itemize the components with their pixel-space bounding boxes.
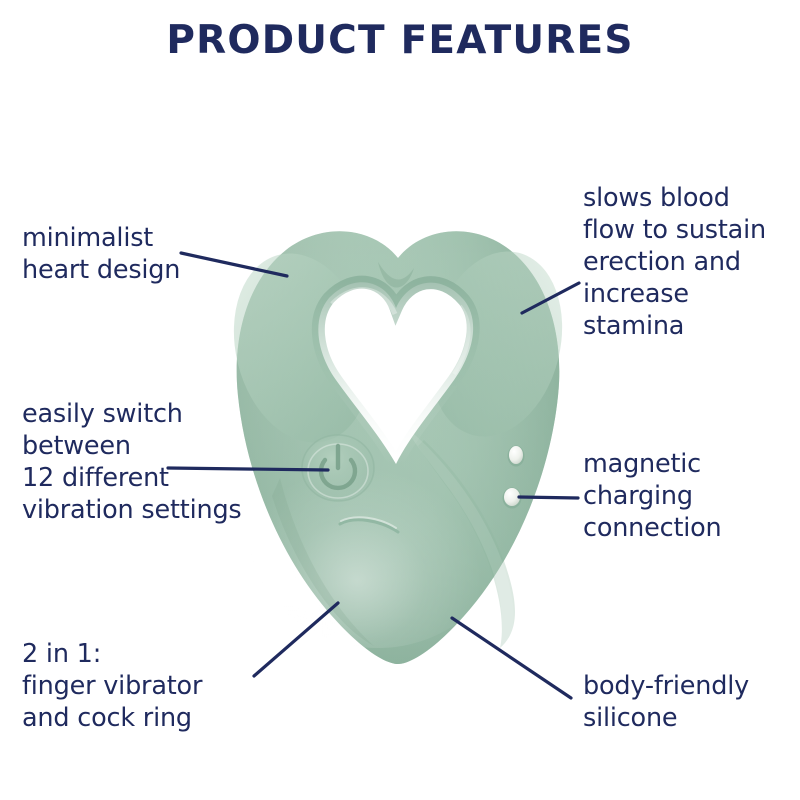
product-image [228, 228, 568, 668]
feature-label-easily-switch-vibration-settings: easily switch between 12 different vibra… [22, 398, 242, 526]
charging-contact-top [509, 446, 523, 464]
feature-label-two-in-one: 2 in 1: finger vibrator and cock ring [22, 638, 202, 734]
feature-label-body-friendly-silicone: body-friendly silicone [583, 670, 749, 734]
feature-label-magnetic-charging-connection: magnetic charging connection [583, 448, 722, 544]
feature-label-minimalist-heart-design: minimalist heart design [22, 222, 180, 286]
power-button[interactable] [302, 435, 374, 501]
infographic-canvas: PRODUCT FEATURES [0, 0, 800, 800]
feature-label-slows-blood-flow: slows blood flow to sustain erection and… [583, 182, 766, 342]
page-title: PRODUCT FEATURES [0, 18, 800, 63]
charging-contact-bottom [504, 488, 520, 506]
